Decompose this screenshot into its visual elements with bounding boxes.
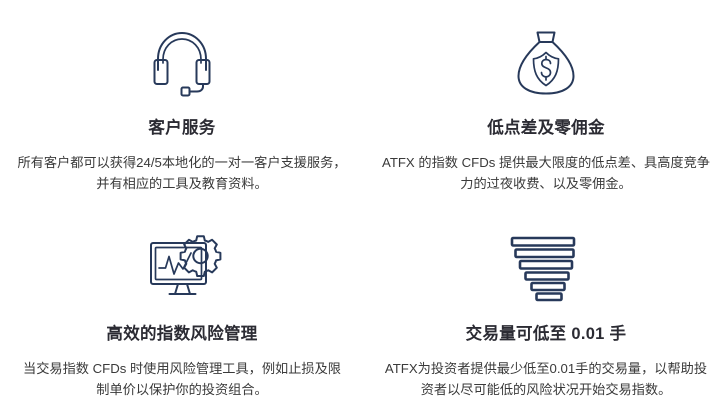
feature-description: ATFX 的指数 CFDs 提供最大限度的低点差、具高度竞争力的过夜收费、以及零… <box>381 152 711 195</box>
feature-title: 交易量可低至 0.01 手 <box>466 320 627 344</box>
feature-description: ATFX为投资者提供最少低至0.01手的交易量，以帮助投资者以尽可能低的风险状况… <box>381 358 711 401</box>
features-grid: 客户服务 所有客户都可以获得24/5本地化的一对一客户支援服务，并有相应的工具及… <box>0 0 728 413</box>
feature-description: 所有客户都可以获得24/5本地化的一对一客户支援服务，并有相应的工具及教育资料。 <box>17 152 347 195</box>
funnel-bars-icon <box>509 232 583 306</box>
feature-card-risk-management: 高效的指数风险管理 当交易指数 CFDs 时使用风险管理工具，例如止损及限制单价… <box>0 206 364 413</box>
feature-title: 客户服务 <box>148 114 215 138</box>
headset-icon <box>145 26 219 100</box>
feature-card-customer-service: 客户服务 所有客户都可以获得24/5本地化的一对一客户支援服务，并有相应的工具及… <box>0 0 364 206</box>
monitor-chart-gear-icon <box>145 232 219 306</box>
feature-description: 当交易指数 CFDs 时使用风险管理工具，例如止损及限制单价以保护你的投资组合。 <box>17 358 347 401</box>
feature-title: 低点差及零佣金 <box>487 114 605 138</box>
money-bag-shield-dollar-icon <box>509 26 583 100</box>
feature-title: 高效的指数风险管理 <box>106 320 257 344</box>
feature-card-min-lot-size: 交易量可低至 0.01 手 ATFX为投资者提供最少低至0.01手的交易量，以帮… <box>364 206 728 413</box>
feature-card-low-spread: 低点差及零佣金 ATFX 的指数 CFDs 提供最大限度的低点差、具高度竞争力的… <box>364 0 728 206</box>
